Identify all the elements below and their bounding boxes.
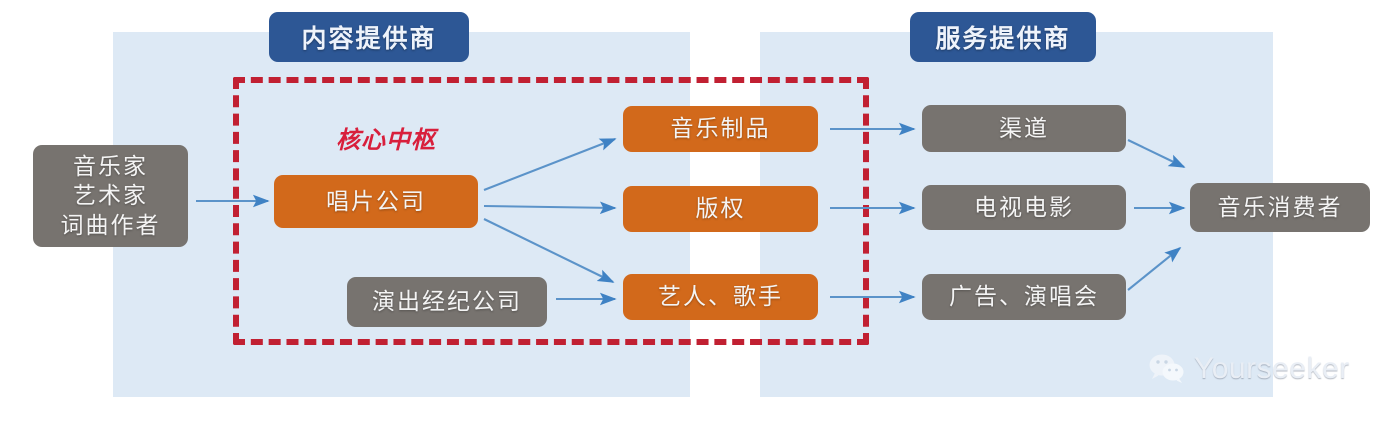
node-creators-line-1: 音乐家 [73,152,148,181]
node-music-products: 音乐制品 [623,106,818,152]
node-artists-singers: 艺人、歌手 [623,274,818,320]
node-creators-line-3: 词曲作者 [61,211,161,240]
node-agency-company: 演出经纪公司 [347,277,547,327]
node-music-consumer: 音乐消费者 [1190,183,1370,232]
node-tv-film: 电视电影 [922,185,1126,230]
wechat-icon [1148,353,1186,385]
node-creators: 音乐家 艺术家 词曲作者 [33,145,188,247]
diagram-canvas: 内容提供商 服务提供商 核心中枢 音乐家 艺术家 词曲作者 唱片公司 演出经纪公… [0,0,1397,427]
node-ads-concerts: 广告、演唱会 [922,274,1126,320]
core-hub-annotation: 核心中枢 [336,120,456,150]
node-label-company: 唱片公司 [274,175,478,228]
node-creators-line-2: 艺术家 [73,181,148,210]
watermark: Yourseeker [1148,352,1350,386]
node-copyright: 版权 [623,186,818,232]
node-channel: 渠道 [922,105,1126,152]
badge-content-provider: 内容提供商 [269,12,469,62]
badge-service-provider: 服务提供商 [910,12,1096,62]
watermark-text: Yourseeker [1194,352,1350,386]
